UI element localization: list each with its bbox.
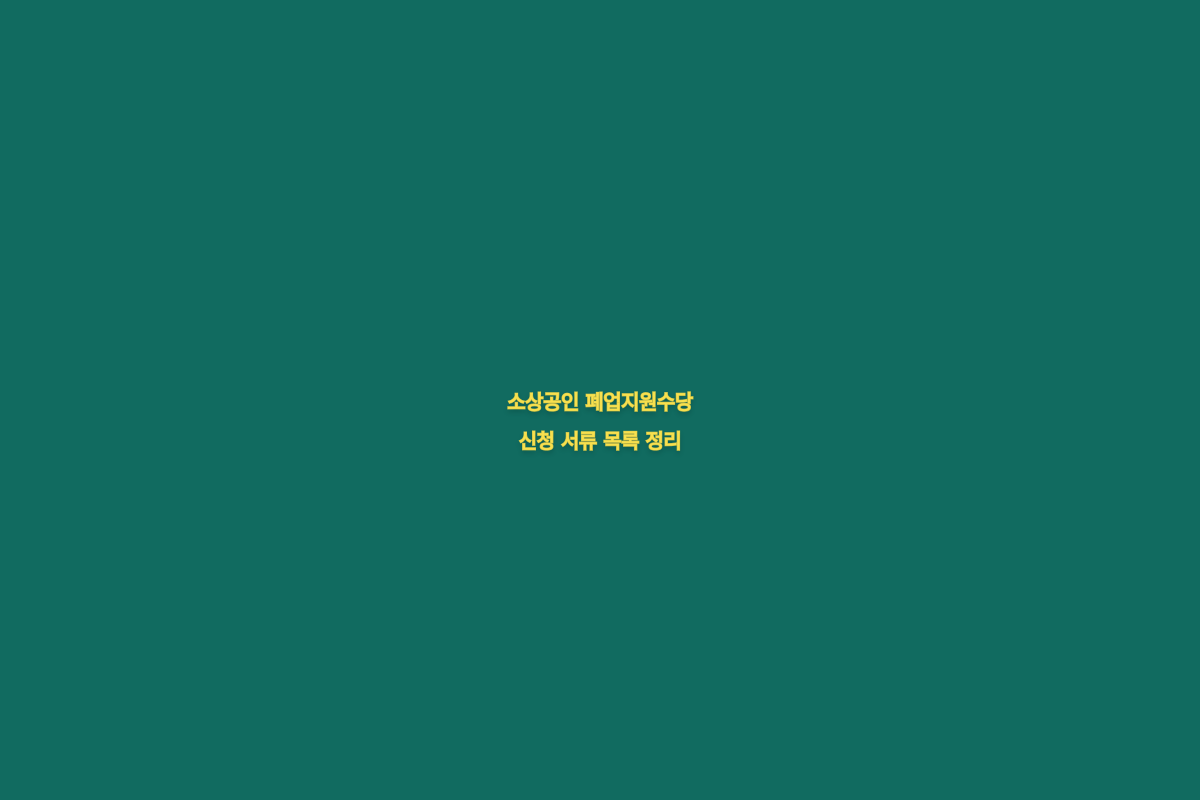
headline-block: 소상공인 폐업지원수당 신청 서류 목록 정리	[0, 392, 1200, 452]
headline-line-2: 신청 서류 목록 정리	[40, 431, 1160, 452]
banner-canvas: 소상공인 폐업지원수당 신청 서류 목록 정리	[0, 0, 1200, 800]
headline-line-1: 소상공인 폐업지원수당	[40, 392, 1160, 413]
